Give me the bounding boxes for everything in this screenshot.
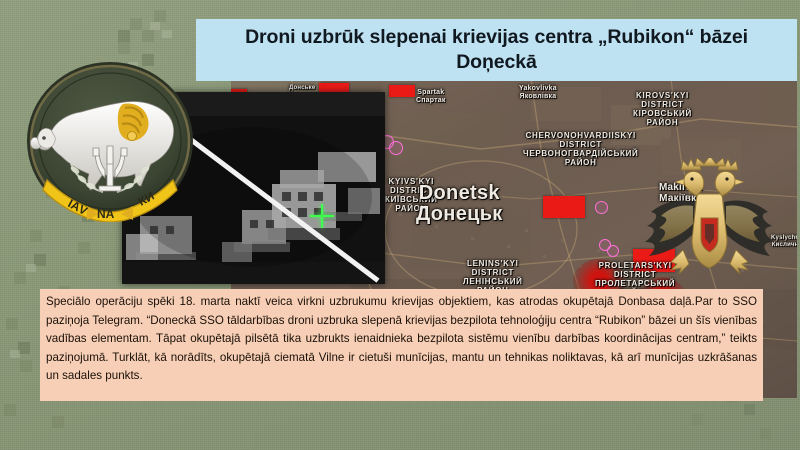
zone-marker <box>595 201 608 214</box>
slide-title-line-2: Doņeckā <box>456 50 537 75</box>
sso-banner-text-center: NA <box>97 207 115 221</box>
body-text-panel: Speciālo operāciju spēki 18. marta naktī… <box>40 289 763 401</box>
strike-marker <box>543 196 585 218</box>
sso-wolf-emblem: ІАV NA КИ <box>25 60 195 222</box>
strike-marker <box>389 85 415 97</box>
zone-marker <box>599 239 611 251</box>
slide-title-line-1: Droni uzbrūk slepenai krievijas centra „… <box>245 25 748 50</box>
russian-double-headed-eagle-emblem <box>637 158 782 280</box>
body-text: Speciālo operāciju spēki 18. marta naktī… <box>46 293 757 386</box>
slide-title-band: Droni uzbrūk slepenai krievijas centra „… <box>196 19 797 81</box>
zone-marker <box>389 141 403 155</box>
targeting-crosshair-icon <box>310 204 334 228</box>
